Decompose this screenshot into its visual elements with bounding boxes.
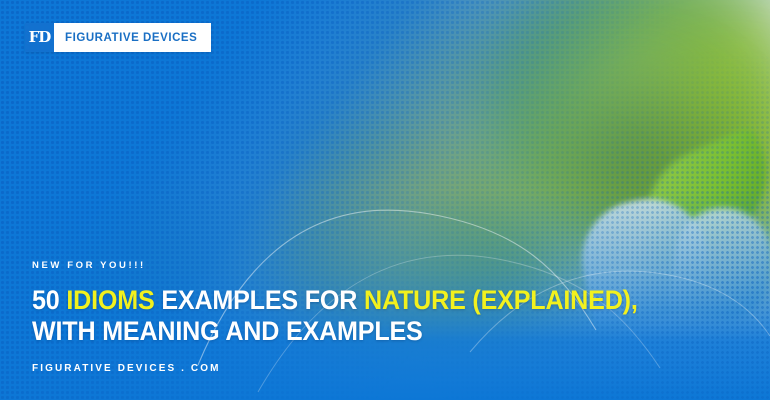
eyebrow-label: NEW FOR YOU!!! [32,260,730,271]
page-title: 50 IDIOMS EXAMPLES FOR NATURE (EXPLAINED… [32,285,681,347]
title-segment-count: 50 [32,285,66,315]
site-url-label: FIGURATIVE DEVICES . COM [32,363,730,374]
title-segment-idioms: IDIOMS [66,285,154,315]
brand-logo[interactable]: FD FIGURATIVE DEVICES [25,23,211,52]
logo-mark-icon: FD [25,23,54,52]
title-segment-nature-explained: NATURE (EXPLAINED), [364,285,638,315]
logo-brand-name: FIGURATIVE DEVICES [54,23,211,52]
title-segment-examples-for: EXAMPLES FOR [155,285,364,315]
title-segment-line2: WITH MEANING AND EXAMPLES [32,316,423,346]
hero-content: NEW FOR YOU!!! 50 IDIOMS EXAMPLES FOR NA… [32,260,730,374]
logo-mark-text: FD [29,30,51,45]
hero-banner: FD FIGURATIVE DEVICES NEW FOR YOU!!! 50 … [0,0,770,400]
